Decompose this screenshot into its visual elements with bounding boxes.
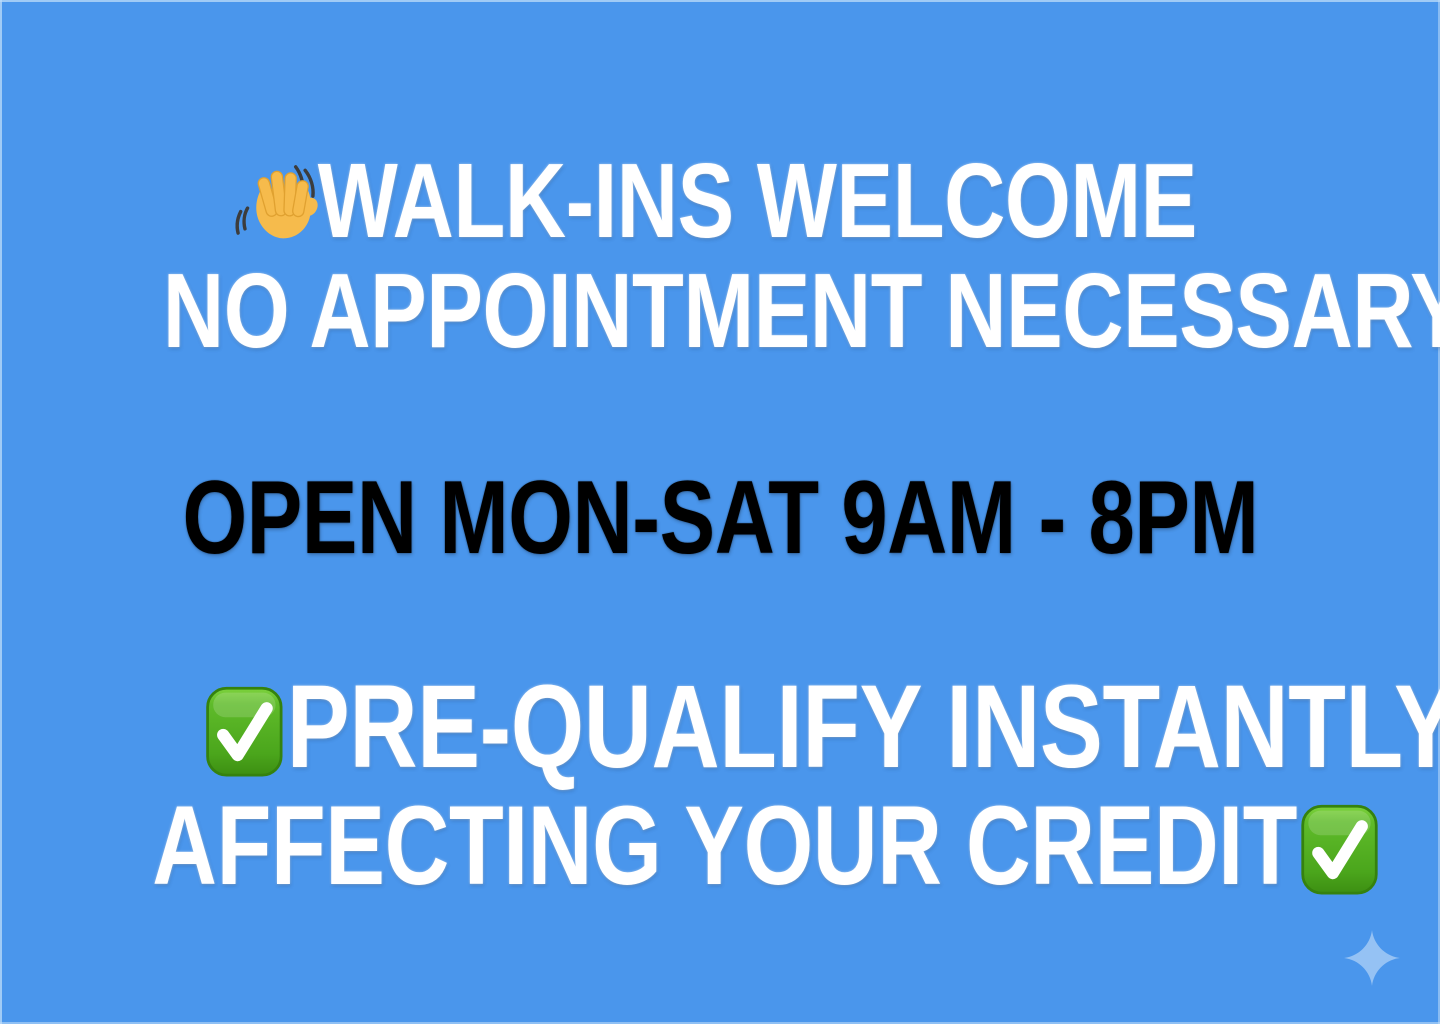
check-mark-button-icon (205, 686, 283, 778)
check-mark-button-icon (1301, 804, 1379, 896)
line-1-text: WALK-INS WELCOME (317, 142, 1196, 260)
headline-line-walk-ins-welcome: WALK-INS WELCOME (0, 148, 1440, 254)
line-4-text: PRE-QUALIFY INSTANTLY WITHOUT (287, 661, 1440, 793)
sparkle-icon (1343, 929, 1401, 987)
headline-line-affecting-credit: AFFECTING YOUR CREDIT (0, 790, 1440, 902)
line-2-text: NO APPOINTMENT NECESSARY (163, 252, 1440, 370)
promo-slide: WALK-INS WELCOME NO APPOINTMENT NECESSAR… (0, 0, 1440, 1024)
headline-line-no-appointment: NO APPOINTMENT NECESSARY (0, 258, 1440, 364)
waving-hand-icon (235, 160, 321, 246)
line-5-text: AFFECTING YOUR CREDIT (152, 783, 1297, 908)
line-3-text: OPEN MON-SAT 9AM - 8PM (182, 460, 1258, 576)
headline-line-pre-qualify: PRE-QUALIFY INSTANTLY WITHOUT (0, 668, 1440, 786)
headline-line-hours: OPEN MON-SAT 9AM - 8PM (0, 466, 1440, 570)
